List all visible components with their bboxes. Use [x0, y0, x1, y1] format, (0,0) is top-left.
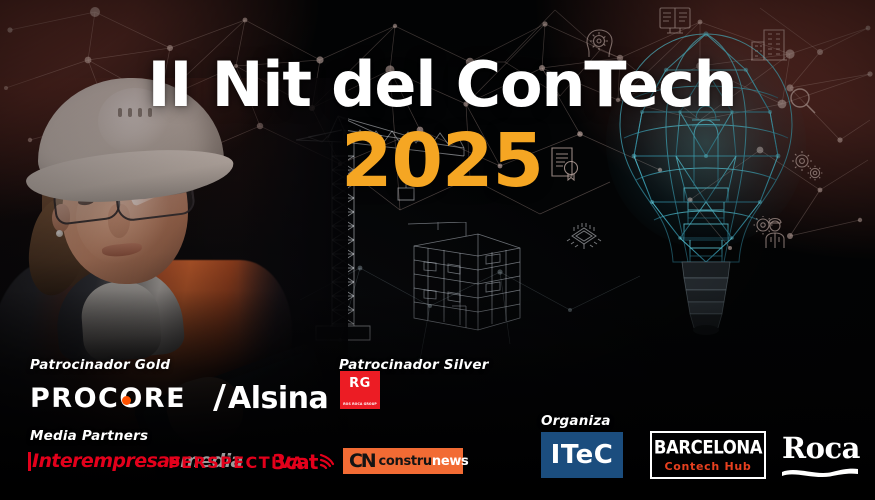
construnews-monogram: CN [349, 450, 374, 472]
event-promo-poster: II Nit del ConTech 2025 Patrocinador Gol… [0, 0, 875, 500]
rg-monogram: RG [349, 376, 371, 391]
logo-roca[interactable]: Roca [782, 434, 862, 478]
construnews-wordmark-news: news [432, 454, 469, 469]
label-media-partners: Media Partners [30, 428, 148, 444]
procore-dot-icon [122, 396, 131, 405]
barcelona-wordmark: BARCELONA [654, 436, 762, 457]
logo-barcelona-contech-hub[interactable]: BARCELONA Contech Hub [650, 431, 766, 479]
roca-wordmark: Roca [782, 434, 862, 463]
construnews-wordmark-constru: constru [378, 454, 431, 469]
procore-wordmark: PROCORE [30, 383, 186, 414]
contech-hub-wordmark: Contech Hub [665, 460, 752, 473]
logo-3cat[interactable]: 3cat [272, 450, 335, 474]
tresbcat-signal-icon [319, 450, 335, 474]
label-patrocinador-gold: Patrocinador Gold [30, 357, 170, 373]
event-year: 2025 [92, 124, 792, 198]
tresbcat-wordmark: 3cat [272, 450, 318, 474]
logo-rg[interactable]: RG ROS ROCA GROUP [340, 371, 380, 409]
logo-alsina[interactable]: Alsina [213, 381, 328, 416]
roca-wave-icon [782, 464, 862, 482]
event-title: II Nit del ConTech [92, 54, 792, 116]
interempresas-wordmark: Interempresas [32, 450, 180, 472]
interempresas-bar-icon [28, 452, 31, 471]
label-organiza: Organiza [541, 413, 611, 429]
alsina-wordmark: Alsina [228, 381, 328, 416]
headline-block: II Nit del ConTech 2025 [92, 54, 792, 198]
rg-subtitle: ROS ROCA GROUP [343, 402, 377, 407]
logo-itec[interactable]: ITeC [541, 432, 623, 478]
alsina-slash-icon [213, 384, 226, 411]
logo-procore[interactable]: PROCORE [30, 383, 186, 414]
logo-construnews[interactable]: CN constru news [343, 448, 463, 474]
